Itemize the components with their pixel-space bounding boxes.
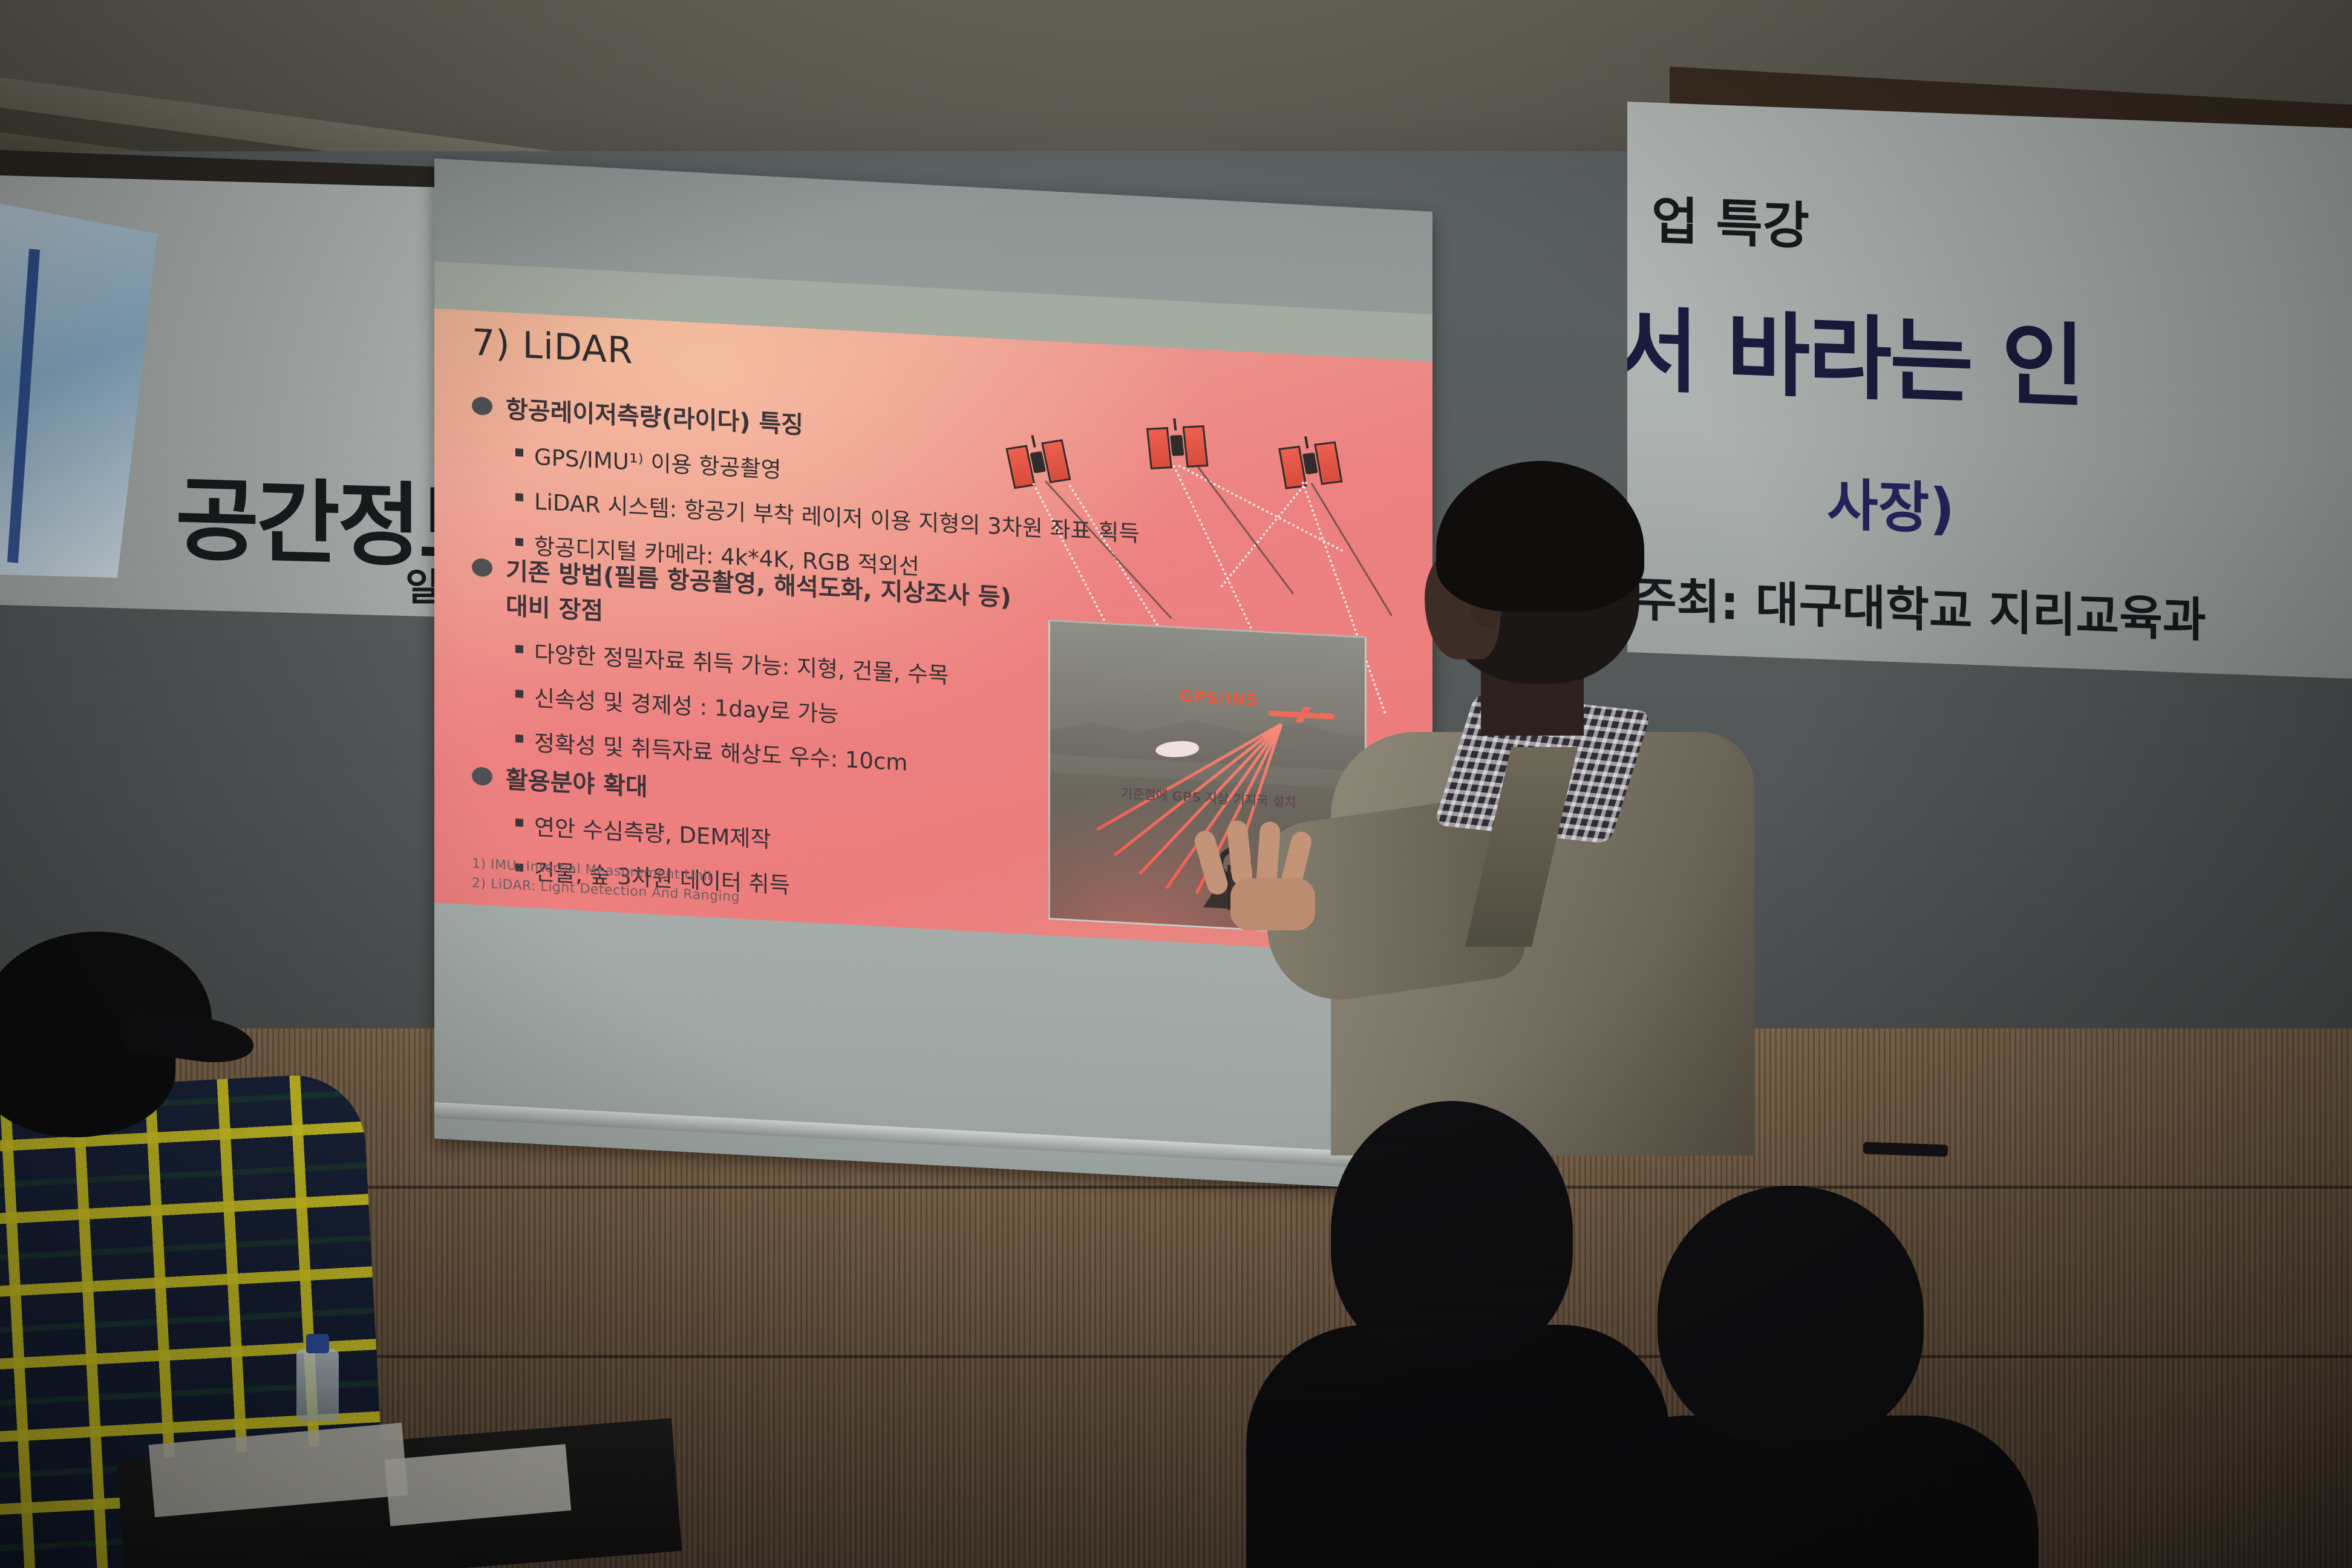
section-heading-label: 활용분야 확대	[506, 760, 648, 803]
bullet-dot-icon	[472, 558, 492, 577]
projection-screen: 7) LiDAR 항공레이저측량(라이다) 특징 GPS/IMU¹⁾ 이용 항공…	[434, 158, 1432, 1192]
list-item-label: 다양한 정밀자료 취득 가능: 지형, 건물, 수목	[534, 635, 949, 690]
presenter-hand	[1210, 829, 1331, 920]
square-bullet-icon	[515, 690, 523, 698]
square-bullet-icon	[515, 493, 523, 501]
banner-right-line3: 사장)	[1827, 460, 1955, 545]
square-bullet-icon	[515, 538, 523, 546]
satellite-icon	[1005, 439, 1070, 486]
bullet-dot-icon	[472, 766, 492, 786]
slide-title: 7) LiDAR	[472, 321, 633, 372]
slide-section-2: 기존 방법(필름 항공촬영, 해석도화, 지상조사 등) 대비 장점 다양한 정…	[472, 549, 1011, 783]
list-item-label: GPS/IMU¹⁾ 이용 항공촬영	[534, 439, 782, 485]
audience-head	[1331, 1101, 1573, 1361]
reference-ray	[1045, 480, 1172, 619]
list-item-label: 연안 수심측량, DEM제작	[534, 809, 771, 854]
section-heading-label: 항공레이저측량(라이다) 특징	[506, 390, 803, 440]
presenter-hair	[1436, 461, 1644, 612]
audience-head	[1658, 1186, 1924, 1446]
presenter	[1289, 472, 1785, 1149]
banner-right-line2: 서 바라는 인	[1627, 276, 2083, 425]
list-item: 연안 수심측량, DEM제작	[515, 808, 790, 855]
bullet-dot-icon	[472, 396, 492, 416]
square-bullet-icon	[515, 645, 523, 653]
water-bottle[interactable]	[296, 1349, 339, 1422]
square-bullet-icon	[515, 448, 523, 457]
square-bullet-icon	[515, 818, 523, 827]
lecture-hall-photo: 공간정보 일 업 특강 서 바라는 인 사장) 주최: 대구대학교 지리교육과 …	[0, 0, 2352, 1568]
audience-member-front-right	[1573, 1186, 2008, 1568]
square-bullet-icon	[515, 734, 523, 743]
list-item-label: 신속성 및 경제성 : 1day로 가능	[534, 680, 838, 729]
reference-ray	[1196, 465, 1294, 595]
satellite-icon	[1146, 425, 1208, 467]
banner-right-line1: 업 특강	[1651, 180, 1809, 259]
water-bottle-cap[interactable]	[306, 1334, 329, 1353]
